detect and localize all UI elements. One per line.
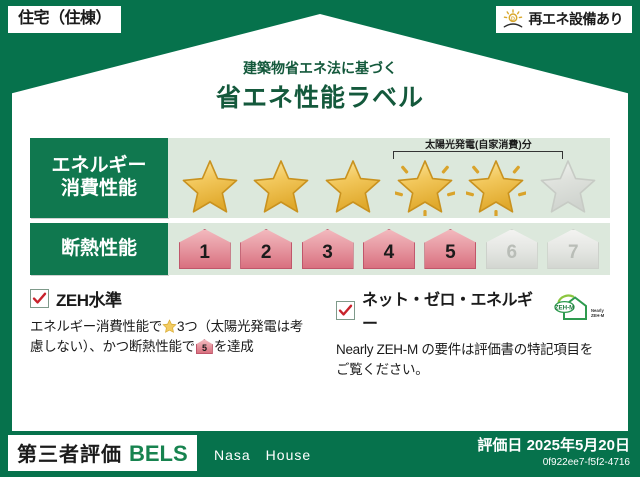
inline-star-icon [162, 319, 177, 334]
zeh-desc-part3: を達成 [214, 339, 254, 354]
energy-header-line2: 消費性能 [51, 178, 146, 201]
solar-contribution-note: 太陽光発電(自家消費)分 [393, 136, 563, 151]
footer-bar: 第三者評価 BELS Nasa House 評価日 2025年5月20日 0f9… [0, 431, 640, 477]
insulation-level-inactive: 6 [486, 229, 538, 269]
evaluation-info: 評価日 2025年5月20日 0f922ee7-f5f2-4716 [477, 434, 630, 468]
energy-star-rating [168, 158, 610, 216]
star-filled-icon [251, 158, 311, 216]
insulation-level-active: 1 [179, 229, 231, 269]
star-filled-icon [180, 158, 240, 216]
note-zeh-header: ZEH水準 [30, 286, 306, 311]
insulation-level-label: 5 [445, 243, 456, 269]
bels-certification-mark: 第三者評価 BELS [8, 435, 197, 471]
nze-description: Nearly ZEH-M の要件は評価書の特記項目をご覧ください。 [336, 340, 606, 381]
nze-title: ネット・ゼロ・エネルギー [362, 286, 543, 334]
insulation-performance-body: 1234567 [168, 223, 610, 275]
note-net-zero-energy: ネット・ゼロ・エネルギー ZEH-M Nearly ZEH-M Nearly Z… [320, 286, 610, 423]
zeh-checkbox-checked-icon [30, 289, 49, 308]
inline-insulation-chip: 5 [196, 339, 213, 354]
zeh-m-logo-text: ZEH-M [555, 304, 575, 311]
inline-chip-label: 5 [196, 339, 213, 354]
sun-solar-icon: D [502, 9, 524, 29]
renewable-equipment-badge: D 再エネ設備あり [496, 6, 633, 33]
category-tab-label: 住宅（住棟） [18, 10, 111, 27]
nze-checkbox-checked-icon [336, 301, 355, 320]
renewable-badge-label: 再エネ設備あり [529, 9, 624, 29]
energy-performance-header: エネルギー 消費性能 [30, 138, 168, 218]
insulation-level-label: 2 [261, 243, 272, 269]
energy-performance-row: エネルギー 消費性能 太陽光発電(自家消費)分 [30, 138, 610, 218]
insulation-level-active: 4 [363, 229, 415, 269]
svg-text:D: D [511, 16, 515, 22]
criteria-notes: ZEH水準 エネルギー消費性能で 3つ（太陽光発電は考慮しない）、かつ断熱性能で… [30, 286, 610, 423]
insulation-level-active: 3 [302, 229, 354, 269]
insulation-performance-header: 断熱性能 [30, 223, 168, 275]
evaluation-id: 0f922ee7-f5f2-4716 [477, 457, 630, 468]
insulation-level-inactive: 7 [547, 229, 599, 269]
insulation-level-scale: 1234567 [168, 223, 610, 275]
label-content: 建築物省エネ法に基づく 省エネ性能ラベル エネルギー 消費性能 太陽光発電(自家… [12, 14, 628, 431]
energy-performance-body: 太陽光発電(自家消費)分 [168, 138, 610, 218]
zeh-description: エネルギー消費性能で 3つ（太陽光発電は考慮しない）、かつ断熱性能で5を達成 [30, 317, 306, 358]
label-subtitle: 建築物省エネ法に基づく [12, 58, 628, 78]
bels-jp-label: 第三者評価 [17, 438, 122, 467]
energy-header-line1: エネルギー [51, 155, 146, 178]
star-filled-icon [395, 158, 455, 216]
insulation-level-active: 2 [240, 229, 292, 269]
zeh-desc-part1: エネルギー消費性能で [30, 319, 162, 334]
insulation-level-label: 4 [384, 243, 395, 269]
star-filled-icon [323, 158, 383, 216]
insulation-level-active: 5 [424, 229, 476, 269]
note-nze-header: ネット・ゼロ・エネルギー ZEH-M Nearly ZEH-M [336, 286, 606, 334]
zeh-m-logo: ZEH-M Nearly ZEH-M [550, 293, 606, 328]
evaluation-date: 評価日 2025年5月20日 [477, 434, 630, 455]
note-zeh-standard: ZEH水準 エネルギー消費性能で 3つ（太陽光発電は考慮しない）、かつ断熱性能で… [30, 286, 320, 423]
building-name: Nasa House [214, 445, 311, 465]
insulation-level-label: 1 [199, 243, 210, 269]
insulation-level-label: 6 [507, 243, 518, 269]
label-title: 省エネ性能ラベル [12, 78, 628, 114]
insulation-level-label: 3 [322, 243, 333, 269]
star-filled-icon [466, 158, 526, 216]
insulation-performance-row: 断熱性能 1234567 [30, 223, 610, 275]
category-tab: 住宅（住棟） [8, 6, 121, 33]
insulation-header-label: 断熱性能 [61, 238, 137, 261]
bels-en-label: BELS [129, 441, 188, 467]
zeh-m-logo-sub2: ZEH-M [591, 313, 605, 318]
star-empty-icon [538, 158, 598, 216]
energy-label-card: 住宅（住棟） D 再エネ設備あり 建築物省エネ法に基づく 省エネ性能ラベル [0, 0, 640, 477]
zeh-title: ZEH水準 [56, 286, 122, 311]
insulation-level-label: 7 [568, 243, 579, 269]
